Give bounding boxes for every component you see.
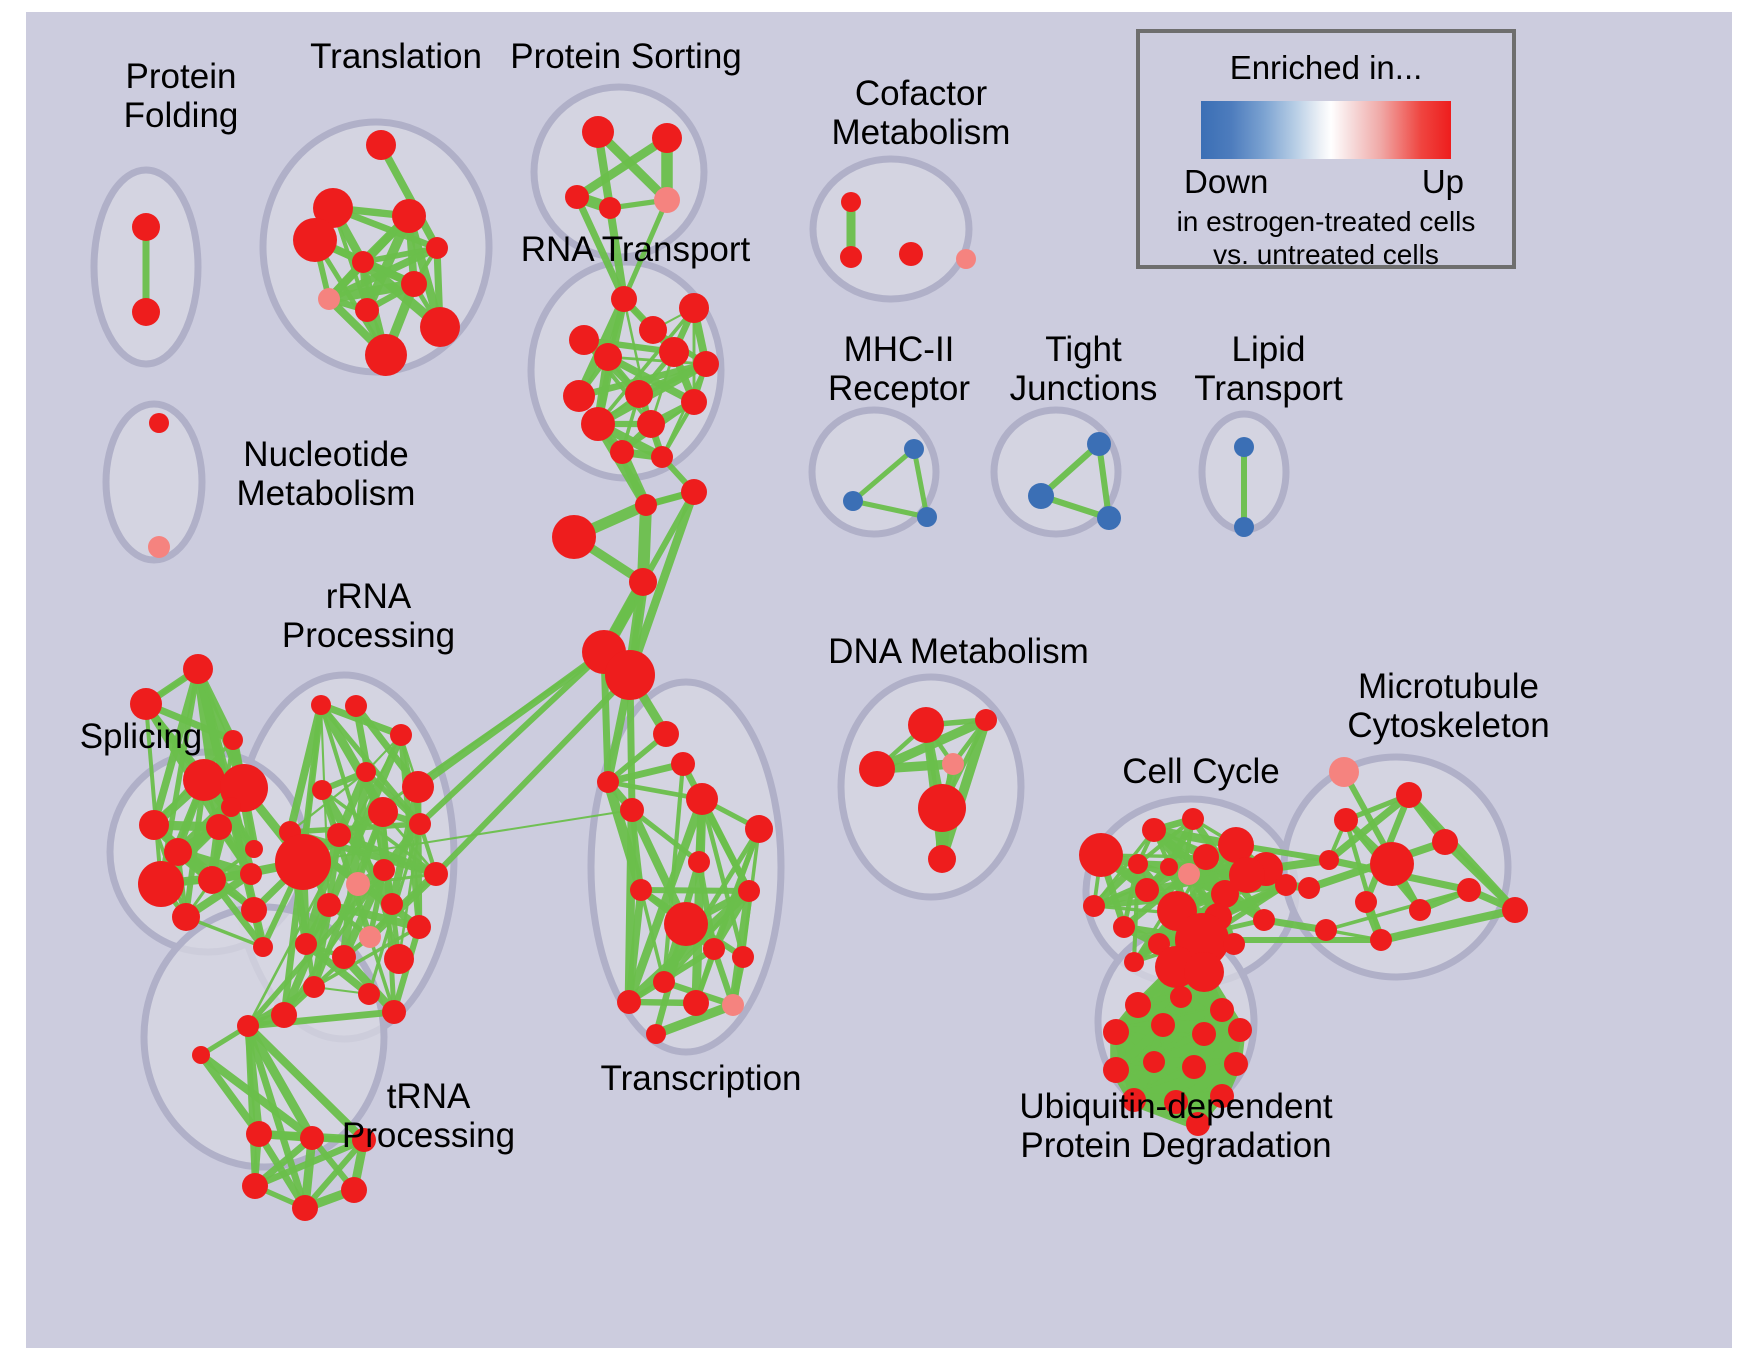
network-node-translation[interactable] — [392, 199, 426, 233]
legend-endpoint-labels: Down Up — [1176, 163, 1476, 203]
network-node-translation[interactable] — [426, 237, 448, 259]
network-node-transcription[interactable] — [738, 880, 760, 902]
network-node-rna-transport[interactable] — [625, 380, 653, 408]
network-node-transcription[interactable] — [617, 990, 641, 1014]
figure-root: Protein FoldingTranslationProtein Sortin… — [0, 0, 1750, 1360]
network-node-rrna-processing[interactable] — [382, 1000, 406, 1024]
network-node-rrna-processing[interactable] — [303, 976, 325, 998]
network-node-dna-metabolism[interactable] — [859, 751, 895, 787]
network-node-protein-folding[interactable] — [132, 298, 160, 326]
network-node-microtubule-cytoskeleton[interactable] — [1355, 891, 1377, 913]
network-node-rna-transport[interactable] — [637, 410, 665, 438]
network-node-cell-cycle[interactable] — [1113, 916, 1135, 938]
network-node-ubiquitin-protein-degradation[interactable] — [1125, 992, 1151, 1018]
network-node-transcription[interactable] — [630, 879, 652, 901]
network-node-cell-cycle[interactable] — [1079, 833, 1123, 877]
network-node-rrna-processing[interactable] — [424, 862, 448, 886]
network-node-dna-metabolism[interactable] — [942, 753, 964, 775]
network-node-tight-junctions[interactable] — [1097, 506, 1121, 530]
network-node-splicing[interactable] — [223, 730, 243, 750]
network-node-rrna-processing[interactable] — [356, 762, 376, 782]
network-node-ubiquitin-protein-degradation[interactable] — [1103, 1019, 1129, 1045]
network-node-transcription[interactable] — [686, 783, 718, 815]
network-node-bridge[interactable] — [629, 568, 657, 596]
network-node-dna-metabolism[interactable] — [928, 845, 956, 873]
network-node-cofactor-metabolism[interactable] — [956, 249, 976, 269]
network-node-ubiquitin-protein-degradation[interactable] — [1184, 952, 1224, 992]
network-node-translation[interactable] — [352, 251, 374, 273]
network-node-microtubule-cytoskeleton[interactable] — [1315, 919, 1337, 941]
network-node-transcription[interactable] — [703, 938, 725, 960]
network-node-ubiquitin-protein-degradation[interactable] — [1228, 1018, 1252, 1042]
cluster-ellipse-cofactor-metabolism[interactable] — [813, 159, 969, 299]
network-node-rna-transport[interactable] — [639, 316, 667, 344]
network-node-translation[interactable] — [401, 271, 427, 297]
network-node-ubiquitin-protein-degradation[interactable] — [1170, 986, 1192, 1008]
network-node-ubiquitin-protein-degradation[interactable] — [1224, 1052, 1248, 1076]
network-node-rrna-processing[interactable] — [407, 915, 431, 939]
network-node-microtubule-cytoskeleton[interactable] — [1502, 897, 1528, 923]
network-node-transcription[interactable] — [653, 721, 679, 747]
network-node-microtubule-cytoskeleton[interactable] — [1298, 877, 1320, 899]
network-node-rrna-processing[interactable] — [295, 933, 317, 955]
network-node-protein-sorting[interactable] — [652, 123, 682, 153]
network-node-rna-transport[interactable] — [659, 337, 689, 367]
network-node-transcription[interactable] — [745, 815, 773, 843]
network-node-cell-cycle[interactable] — [1178, 863, 1200, 885]
network-node-lipid-transport[interactable] — [1234, 437, 1254, 457]
network-node-splicing[interactable] — [198, 866, 226, 894]
network-node-transcription[interactable] — [620, 798, 644, 822]
network-node-protein-sorting[interactable] — [565, 185, 589, 209]
network-node-rna-transport[interactable] — [563, 380, 595, 412]
network-node-translation[interactable] — [318, 288, 340, 310]
network-node-cell-cycle[interactable] — [1160, 858, 1178, 876]
network-node-cell-cycle[interactable] — [1135, 878, 1159, 902]
network-node-transcription[interactable] — [646, 1024, 666, 1044]
network-node-bridge[interactable] — [552, 515, 596, 559]
network-node-rrna-processing[interactable] — [311, 695, 331, 715]
network-node-rna-transport[interactable] — [569, 325, 599, 355]
network-node-cell-cycle[interactable] — [1128, 854, 1148, 874]
network-node-protein-sorting[interactable] — [654, 187, 680, 213]
network-node-translation[interactable] — [366, 130, 396, 160]
network-node-trna-processing[interactable] — [192, 1046, 210, 1064]
legend-up-label: Up — [1422, 163, 1464, 201]
network-node-rrna-processing[interactable] — [368, 797, 398, 827]
network-node-rrna-processing[interactable] — [312, 780, 332, 800]
network-node-translation[interactable] — [355, 298, 379, 322]
network-node-microtubule-cytoskeleton[interactable] — [1370, 842, 1414, 886]
network-node-splicing[interactable] — [183, 654, 213, 684]
network-node-transcription[interactable] — [722, 994, 744, 1016]
network-node-trna-processing[interactable] — [352, 1128, 376, 1152]
network-node-cell-cycle[interactable] — [1083, 895, 1105, 917]
network-edge — [641, 890, 749, 891]
network-node-microtubule-cytoskeleton[interactable] — [1319, 850, 1339, 870]
network-node-cell-cycle[interactable] — [1275, 874, 1297, 896]
network-node-ubiquitin-protein-degradation[interactable] — [1186, 1112, 1210, 1136]
network-node-cell-cycle[interactable] — [1253, 909, 1275, 931]
network-node-microtubule-cytoskeleton[interactable] — [1432, 829, 1458, 855]
network-node-splicing[interactable] — [138, 861, 184, 907]
network-node-tight-junctions[interactable] — [1028, 483, 1054, 509]
network-node-dna-metabolism[interactable] — [918, 784, 966, 832]
network-node-ubiquitin-protein-degradation[interactable] — [1210, 998, 1234, 1022]
network-node-splicing[interactable] — [245, 840, 263, 858]
network-node-microtubule-cytoskeleton[interactable] — [1329, 757, 1359, 787]
network-node-microtubule-cytoskeleton[interactable] — [1457, 878, 1481, 902]
network-node-rrna-processing[interactable] — [346, 872, 370, 896]
network-edge — [629, 810, 632, 1002]
network-node-rrna-processing[interactable] — [327, 823, 351, 847]
network-node-protein-folding[interactable] — [132, 213, 160, 241]
network-node-microtubule-cytoskeleton[interactable] — [1334, 808, 1358, 832]
network-node-splicing[interactable] — [253, 937, 273, 957]
network-node-transcription[interactable] — [688, 851, 710, 873]
network-node-rrna-processing[interactable] — [275, 834, 331, 890]
network-node-rrna-processing[interactable] — [358, 983, 380, 1005]
network-node-microtubule-cytoskeleton[interactable] — [1370, 929, 1392, 951]
network-node-dna-metabolism[interactable] — [975, 709, 997, 731]
network-node-rna-transport[interactable] — [611, 286, 637, 312]
network-node-rrna-processing[interactable] — [271, 1002, 297, 1028]
network-node-splicing[interactable] — [183, 759, 225, 801]
network-node-ubiquitin-protein-degradation[interactable] — [1122, 1088, 1146, 1112]
network-node-mhc-ii-receptor[interactable] — [904, 439, 924, 459]
legend-subtitle: in estrogen-treated cells vs. untreated … — [1140, 205, 1512, 271]
network-node-rna-transport[interactable] — [594, 343, 622, 371]
network-node-nucleotide-metabolism[interactable] — [149, 413, 169, 433]
network-node-rrna-processing[interactable] — [237, 1015, 259, 1037]
network-node-bridge[interactable] — [681, 479, 707, 505]
network-node-translation[interactable] — [293, 218, 337, 262]
network-node-trna-processing[interactable] — [300, 1126, 324, 1150]
network-node-rrna-processing[interactable] — [409, 813, 431, 835]
network-node-microtubule-cytoskeleton[interactable] — [1396, 782, 1422, 808]
network-node-cell-cycle[interactable] — [1193, 844, 1219, 870]
network-node-ubiquitin-protein-degradation[interactable] — [1151, 1013, 1175, 1037]
network-node-cofactor-metabolism[interactable] — [841, 192, 861, 212]
network-node-rrna-processing[interactable] — [317, 893, 341, 917]
network-node-nucleotide-metabolism[interactable] — [148, 536, 170, 558]
network-node-rrna-processing[interactable] — [345, 695, 367, 717]
network-canvas: Protein FoldingTranslationProtein Sortin… — [26, 12, 1732, 1348]
network-node-mhc-ii-receptor[interactable] — [917, 507, 937, 527]
network-node-rna-transport[interactable] — [679, 293, 709, 323]
network-node-cell-cycle[interactable] — [1142, 818, 1166, 842]
network-node-lipid-transport[interactable] — [1234, 517, 1254, 537]
network-node-splicing[interactable] — [130, 688, 162, 720]
network-node-splicing[interactable] — [139, 810, 169, 840]
network-node-rna-transport[interactable] — [693, 351, 719, 377]
network-node-protein-sorting[interactable] — [599, 197, 621, 219]
network-node-ubiquitin-protein-degradation[interactable] — [1164, 1090, 1188, 1114]
network-node-mhc-ii-receptor[interactable] — [843, 491, 863, 511]
network-node-rrna-processing[interactable] — [381, 893, 403, 915]
network-node-cell-cycle[interactable] — [1182, 808, 1204, 830]
network-node-bridge[interactable] — [605, 650, 655, 700]
network-node-transcription[interactable] — [732, 946, 754, 968]
network-node-ubiquitin-protein-degradation[interactable] — [1182, 1055, 1206, 1079]
network-edge — [696, 799, 702, 1003]
legend-box: Enriched in... Down Up in estrogen-treat… — [1136, 29, 1516, 269]
legend-color-gradient-bar — [1201, 101, 1451, 159]
network-node-translation[interactable] — [365, 334, 407, 376]
network-node-ubiquitin-protein-degradation[interactable] — [1210, 1084, 1234, 1108]
network-node-rrna-processing[interactable] — [332, 945, 356, 969]
legend-title: Enriched in... — [1140, 49, 1512, 87]
network-node-rrna-processing[interactable] — [373, 859, 395, 881]
network-node-rna-transport[interactable] — [581, 407, 615, 441]
network-node-transcription[interactable] — [597, 771, 619, 793]
network-node-splicing[interactable] — [206, 814, 232, 840]
network-node-rrna-processing[interactable] — [384, 944, 414, 974]
network-node-translation[interactable] — [420, 307, 460, 347]
network-node-trna-processing[interactable] — [246, 1121, 272, 1147]
network-node-rna-transport[interactable] — [681, 389, 707, 415]
network-node-splicing[interactable] — [164, 838, 192, 866]
network-node-rna-transport[interactable] — [651, 446, 673, 468]
network-node-transcription[interactable] — [671, 752, 695, 776]
network-node-ubiquitin-protein-degradation[interactable] — [1103, 1057, 1129, 1083]
network-node-cell-cycle[interactable] — [1223, 933, 1245, 955]
network-node-cofactor-metabolism[interactable] — [840, 246, 862, 268]
network-node-protein-sorting[interactable] — [582, 116, 614, 148]
network-node-splicing[interactable] — [240, 863, 262, 885]
network-node-splicing[interactable] — [241, 897, 267, 923]
network-node-rrna-processing[interactable] — [359, 926, 381, 948]
network-node-trna-processing[interactable] — [242, 1173, 268, 1199]
network-node-ubiquitin-protein-degradation[interactable] — [1192, 1022, 1216, 1046]
network-node-trna-processing[interactable] — [292, 1195, 318, 1221]
network-node-rna-transport[interactable] — [610, 440, 634, 464]
network-node-splicing[interactable] — [221, 797, 241, 817]
network-node-microtubule-cytoskeleton[interactable] — [1409, 899, 1431, 921]
network-node-bridge[interactable] — [635, 494, 657, 516]
network-node-trna-processing[interactable] — [341, 1177, 367, 1203]
legend-down-label: Down — [1184, 163, 1268, 201]
network-node-dna-metabolism[interactable] — [908, 707, 944, 743]
network-node-cell-cycle[interactable] — [1124, 952, 1144, 972]
network-node-tight-junctions[interactable] — [1087, 432, 1111, 456]
network-node-ubiquitin-protein-degradation[interactable] — [1143, 1051, 1165, 1073]
network-node-transcription[interactable] — [653, 971, 675, 993]
network-node-cofactor-metabolism[interactable] — [899, 242, 923, 266]
network-node-splicing[interactable] — [172, 903, 200, 931]
network-node-transcription[interactable] — [664, 902, 708, 946]
network-node-transcription[interactable] — [683, 990, 709, 1016]
network-node-rrna-processing[interactable] — [390, 724, 412, 746]
network-edge — [418, 787, 419, 927]
network-node-rrna-processing[interactable] — [402, 771, 434, 803]
